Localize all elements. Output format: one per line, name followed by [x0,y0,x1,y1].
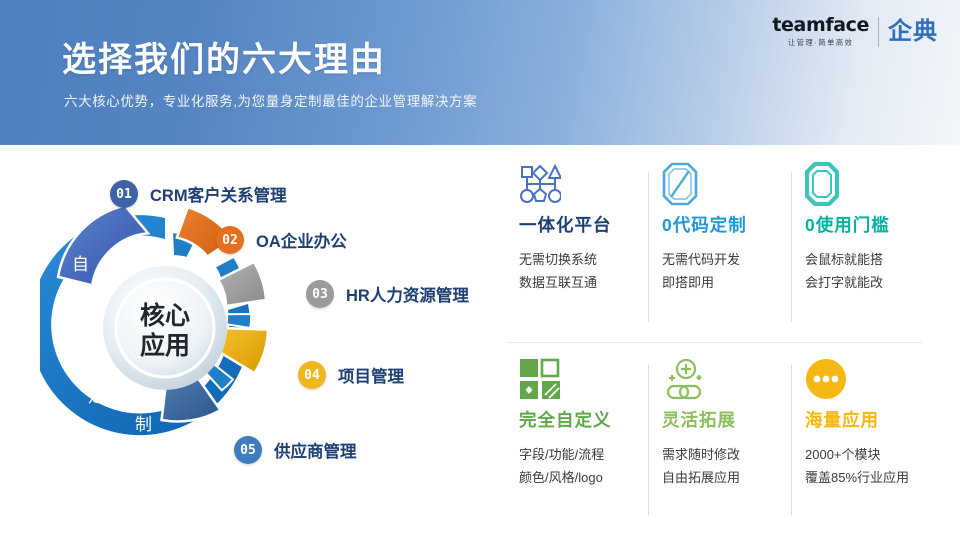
feature-line-6-2: 覆盖85%行业应用 [805,467,934,490]
features-row-top: 一体化平台 无需切换系统 数据互联互通 0代码定制 无需代码开发 [505,160,935,320]
legend-item-04[interactable]: 04 项目管理 [298,361,404,389]
feature-lines-1: 无需切换系统 数据互联互通 [519,249,648,295]
feature-lines-6: 2000+个模块 覆盖85%行业应用 [805,444,934,490]
legend-label-04: 项目管理 [338,363,404,387]
feature-line-1-1: 无需切换系统 [519,249,648,272]
ring-char-1: 自 [72,255,89,274]
feature-line-5-1: 需求随时修改 [662,444,791,467]
logo-chinese-name: 企典 [879,20,938,44]
ring-char-3: 定 [88,387,105,406]
logo-wordmark: teamface [772,16,869,35]
legend-item-01[interactable]: 01 CRM客户关系管理 [110,180,287,208]
feature-icon-wrap-5 [662,355,791,403]
feature-line-1-2: 数据互联互通 [519,272,648,295]
zero-slash-icon [662,162,698,206]
feature-line-5-2: 自由拓展应用 [662,467,791,490]
feature-title-3: 0使用门槛 [805,212,934,237]
features-row-bottom: 完全自定义 字段/功能/流程 颜色/风格/logo [505,355,935,515]
feature-lines-4: 字段/功能/流程 颜色/风格/logo [519,444,648,490]
feature-line-3-1: 会鼠标就能搭 [805,249,934,272]
feature-title-4: 完全自定义 [519,407,648,432]
feature-divider-h [507,342,922,343]
feature-title-6: 海量应用 [805,407,934,432]
feature-title-5: 灵活拓展 [662,407,791,432]
donut-center-line1: 核心 [140,301,190,330]
legend-label-01: CRM客户关系管理 [150,182,287,206]
legend-item-02[interactable]: 02 OA企业办公 [216,226,347,254]
feature-title-2: 0代码定制 [662,212,791,237]
feature-icon-wrap-4 [519,355,648,403]
link-plus-icon [662,358,706,400]
legend-label-03: HR人力资源管理 [346,282,469,306]
legend-badge-01: 01 [110,180,138,208]
features-grid: 一体化平台 无需切换系统 数据互联互通 0代码定制 无需代码开发 [505,160,935,510]
legend-item-03[interactable]: 03 HR人力资源管理 [306,280,469,308]
donut-center-line2: 应用 [140,331,190,360]
feature-icon-wrap-3 [805,160,934,208]
feature-line-2-1: 无需代码开发 [662,249,791,272]
feature-card-massive-apps[interactable]: 海量应用 2000+个模块 覆盖85%行业应用 [791,355,934,515]
feature-icon-wrap-2 [662,160,791,208]
feature-line-4-1: 字段/功能/流程 [519,444,648,467]
legend-badge-03: 03 [306,280,334,308]
feature-line-3-2: 会打字就能改 [805,272,934,295]
feature-title-1: 一体化平台 [519,212,648,237]
slide-root: 选择我们的六大理由 六大核心优势，专业化服务,为您量身定制最佳的企业管理解决方案… [0,0,960,541]
feature-card-zero-threshold[interactable]: 0使用门槛 会鼠标就能搭 会打字就能改 [791,160,934,320]
feature-card-full-custom[interactable]: 完全自定义 字段/功能/流程 颜色/风格/logo [505,355,648,515]
zero-outline-icon [805,162,839,206]
feature-icon-wrap-1 [519,160,648,208]
header-banner: 选择我们的六大理由 六大核心优势，专业化服务,为您量身定制最佳的企业管理解决方案… [0,0,960,145]
feature-icon-wrap-6 [805,355,934,403]
feature-line-4-2: 颜色/风格/logo [519,467,648,490]
feature-lines-3: 会鼠标就能搭 会打字就能改 [805,249,934,295]
hierarchy-icon [519,164,561,204]
feature-card-zero-code[interactable]: 0代码定制 无需代码开发 即搭即用 [648,160,791,320]
donut-segment-accent-3 [226,312,251,328]
grid-blocks-icon [519,358,561,400]
ring-char-2: 由 [62,323,79,342]
logo-wordmark-group: teamface 让管理·简单高效 [772,16,878,48]
brand-logo: teamface 让管理·简单高效 企典 [772,16,938,48]
dots-circle-icon [805,358,847,400]
legend-badge-02: 02 [216,226,244,254]
legend-badge-04: 04 [298,361,326,389]
page-title: 选择我们的六大理由 [62,32,386,81]
feature-card-integrated-platform[interactable]: 一体化平台 无需切换系统 数据互联互通 [505,160,648,320]
feature-line-6-1: 2000+个模块 [805,444,934,467]
feature-card-flexible-extend[interactable]: 灵活拓展 需求随时修改 自由拓展应用 [648,355,791,515]
feature-lines-2: 无需代码开发 即搭即用 [662,249,791,295]
logo-tagline: 让管理·简单高效 [788,38,854,48]
legend-badge-05: 05 [234,436,262,464]
feature-line-2-2: 即搭即用 [662,272,791,295]
feature-lines-5: 需求随时修改 自由拓展应用 [662,444,791,490]
legend-item-05[interactable]: 05 供应商管理 [234,436,357,464]
legend-label-05: 供应商管理 [274,438,357,462]
ring-char-4: 制 [135,415,152,434]
page-subtitle: 六大核心优势，专业化服务,为您量身定制最佳的企业管理解决方案 [64,90,477,110]
legend-label-02: OA企业办公 [256,228,347,252]
